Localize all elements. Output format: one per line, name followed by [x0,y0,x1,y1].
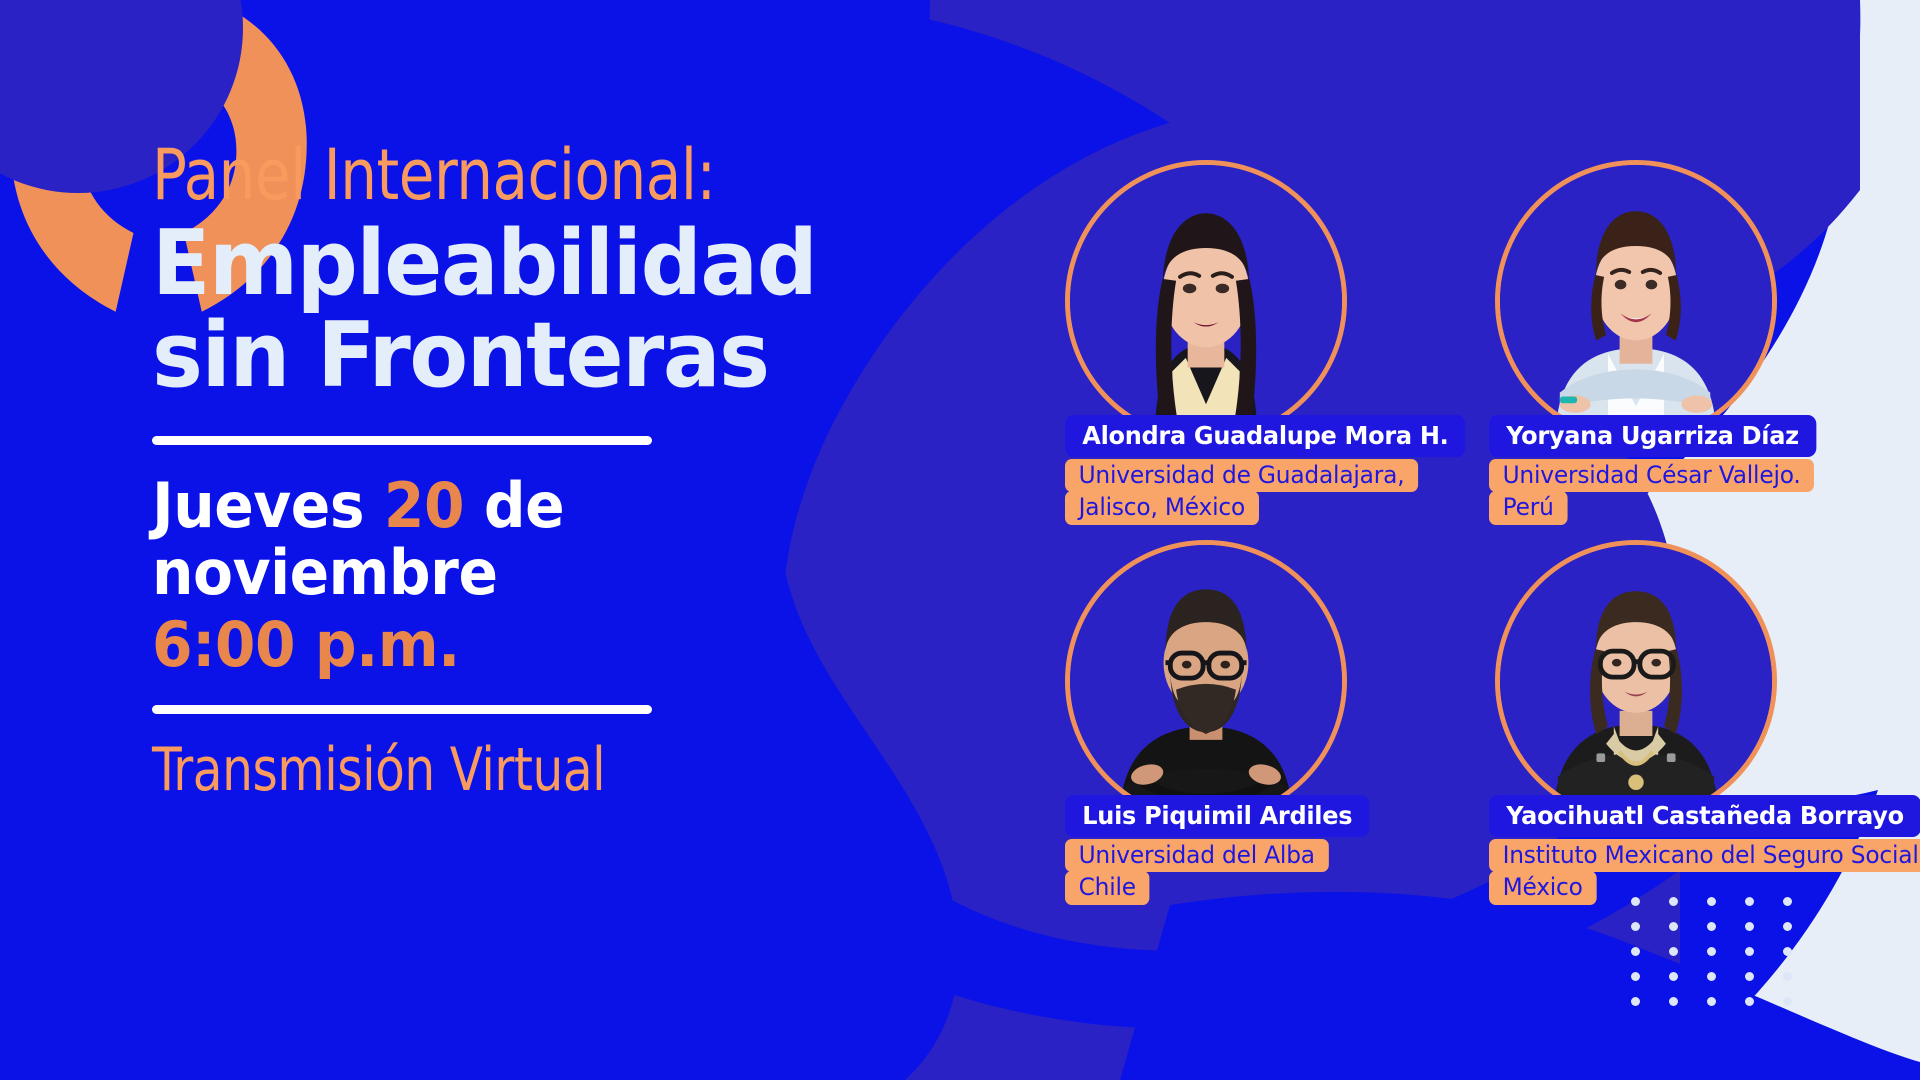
panelist-org-line-1: Universidad del Alba [1065,839,1328,872]
dot [1669,897,1678,906]
event-poster: Panel Internacional: Empleabilidad sin F… [0,0,1920,1080]
avatar [1495,540,1777,822]
avatar [1065,160,1347,442]
panelist-org: Universidad de Guadalajara, Jalisco, Méx… [1065,459,1482,525]
broadcast-mode: Transmisión Virtual [152,740,890,800]
panelist-org-line-1: Universidad César Vallejo. [1489,459,1814,492]
panelist-name: Luis Piquimil Ardiles [1065,795,1370,837]
dot [1783,922,1792,931]
panelist-org-line-1: Instituto Mexicano del Seguro Social [1489,839,1920,872]
title-line-2: sin Fronteras [152,310,931,402]
dot [1669,997,1678,1006]
dot [1669,972,1678,981]
panelist-labels: Luis Piquimil Ardiles Universidad del Al… [1065,795,1382,905]
panelist-labels: Alondra Guadalupe Mora H. Universidad de… [1065,415,1482,525]
panelists-grid: Alondra Guadalupe Mora H. Universidad de… [1055,160,1895,960]
dot [1707,922,1716,931]
dot-grid-decoration [1631,897,1792,1022]
dot-grid-row [1631,997,1792,1022]
avatar [1495,160,1777,442]
event-time: 6:00 p.m. [152,611,923,679]
hero-text-column: Panel Internacional: Empleabilidad sin F… [152,140,972,800]
kicker-text: Panel Internacional: [152,140,906,210]
divider-upper [152,436,652,445]
panelist-org-line-2: México [1489,871,1596,904]
dot [1707,972,1716,981]
avatar-photo-3 [1070,545,1342,817]
date-number: 20 [384,469,464,542]
panelist-org-line-2: Chile [1065,871,1149,904]
dot [1783,947,1792,956]
event-date: Jueves 20 de noviembre [152,473,678,607]
panelist-name: Yaocihuatl Castañeda Borrayo [1489,795,1920,837]
dot-grid-row [1631,972,1792,997]
date-prefix: Jueves [152,469,384,542]
panelist-org: Universidad del Alba Chile [1065,839,1382,905]
dot [1631,922,1640,931]
panelist-card: Luis Piquimil Ardiles Universidad del Al… [1065,540,1347,822]
dot [1783,997,1792,1006]
avatar-photo-2 [1500,165,1772,437]
page-title: Empleabilidad sin Fronteras [152,218,931,402]
panelist-org-line-2: Jalisco, México [1065,491,1259,524]
dot [1631,897,1640,906]
panelist-card: Yaocihuatl Castañeda Borrayo Instituto M… [1495,540,1777,822]
panelist-name: Yoryana Ugarriza Díaz [1489,415,1816,457]
dot [1707,947,1716,956]
panelist-org: Universidad César Vallejo. Perú [1489,459,1830,525]
dot [1745,947,1754,956]
panelist-org-line-1: Universidad de Guadalajara, [1065,459,1418,492]
dot [1631,947,1640,956]
dot [1631,972,1640,981]
dot [1745,997,1754,1006]
dot [1631,997,1640,1006]
dot-grid-row [1631,897,1792,922]
dot [1745,922,1754,931]
dot [1783,897,1792,906]
panelist-labels: Yoryana Ugarriza Díaz Universidad César … [1489,415,1830,525]
dot [1707,997,1716,1006]
panelist-org: Instituto Mexicano del Seguro Social Méx… [1489,839,1920,905]
avatar-photo-4 [1500,545,1772,817]
title-line-1: Empleabilidad [152,211,816,316]
panelist-org-line-2: Perú [1489,491,1567,524]
avatar [1065,540,1347,822]
panelist-card: Yoryana Ugarriza Díaz Universidad César … [1495,160,1777,442]
dot-grid-row [1631,947,1792,972]
dot-grid-row [1631,922,1792,947]
dot [1707,897,1716,906]
divider-lower [152,705,652,714]
panelist-name: Alondra Guadalupe Mora H. [1065,415,1466,457]
dot [1669,922,1678,931]
panelist-labels: Yaocihuatl Castañeda Borrayo Instituto M… [1489,795,1920,905]
dot [1745,897,1754,906]
avatar-photo-1 [1070,165,1342,437]
dot [1745,972,1754,981]
dot [1783,972,1792,981]
panelist-card: Alondra Guadalupe Mora H. Universidad de… [1065,160,1347,442]
dot [1669,947,1678,956]
